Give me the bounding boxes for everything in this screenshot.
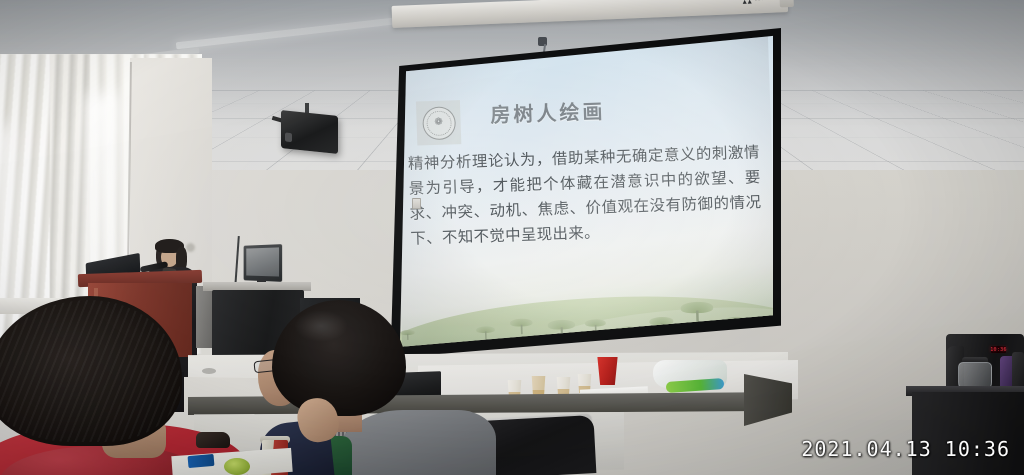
foreground-green-object — [224, 458, 250, 475]
slide-institution-emblem: ❁ — [416, 100, 461, 145]
mitsubishi-diamond-icon — [743, 0, 751, 4]
emblem-seal-icon: ❁ — [422, 106, 456, 140]
wall-light-switch[interactable] — [412, 198, 421, 209]
ceiling-mount-bolt — [538, 37, 547, 46]
foreground-dark-object — [196, 432, 230, 448]
slide-body-text: 精神分析理论认为，借助某种无确定意义的刺激情景为引导，才能把个体藏在潜意识中的欲… — [408, 140, 763, 251]
camera-timestamp: 2021.04.13 10:36 — [801, 437, 1010, 461]
desktop-monitor[interactable] — [244, 244, 283, 282]
ceiling-projector — [281, 110, 338, 154]
window-daylight-glow — [0, 124, 14, 324]
side-cabinet — [912, 392, 1024, 475]
foreground-blue-object — [188, 454, 215, 468]
audience-hair-highlight — [294, 310, 348, 342]
classroom-photo-scene: MITSUBISHI ❁ 房树人绘画 精神分析理论认为，借助某种无确定意义的刺激… — [0, 0, 1024, 475]
coffee-maker-display: 10:36 — [991, 346, 1006, 353]
screen-housing-end-cap — [779, 0, 794, 7]
slide-title: 房树人绘画 — [490, 91, 741, 128]
audience-front-left — [0, 296, 226, 475]
